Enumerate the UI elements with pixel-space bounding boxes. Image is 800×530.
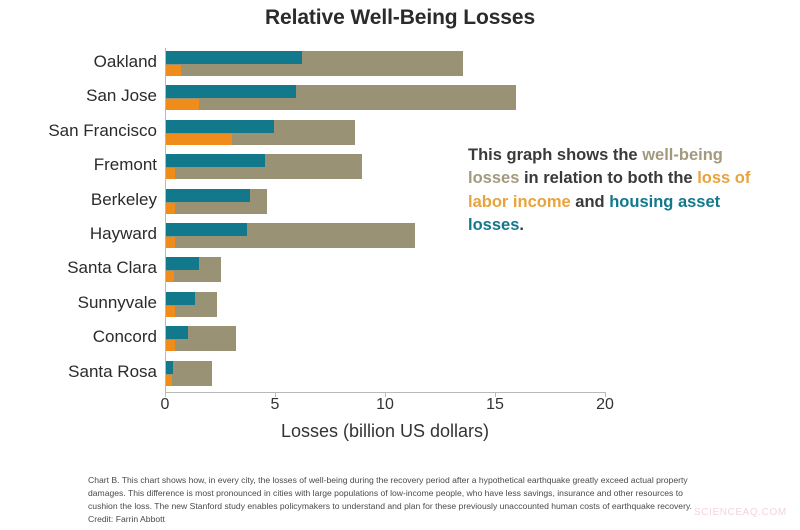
bar-housing-asset-losses xyxy=(166,51,302,64)
city-label: Fremont xyxy=(0,155,157,175)
watermark: SCIENCEAQ.COM xyxy=(694,507,787,518)
x-axis-tick-label: 10 xyxy=(355,396,415,414)
annotation-text: This graph shows the well-being losses i… xyxy=(468,144,758,238)
city-label: Sunnyvale xyxy=(0,293,157,313)
city-label: Berkeley xyxy=(0,190,157,210)
bar-labor-income-loss xyxy=(166,134,232,145)
city-label: San Francisco xyxy=(0,121,157,141)
bar-housing-asset-losses xyxy=(166,120,274,133)
bar-wellbeing-losses xyxy=(166,361,212,386)
city-label: San Jose xyxy=(0,86,157,106)
bar-row: Concord xyxy=(0,323,800,357)
bar-housing-asset-losses xyxy=(166,223,247,236)
bar-housing-asset-losses xyxy=(166,292,195,305)
bar-labor-income-loss xyxy=(166,375,172,386)
annotation-token-plain: This graph shows the xyxy=(468,146,642,164)
bar-labor-income-loss xyxy=(166,340,175,351)
annotation-token-plain: and xyxy=(571,193,610,211)
city-label: Santa Rosa xyxy=(0,362,157,382)
bar-row: Oakland xyxy=(0,48,800,82)
bar-housing-asset-losses xyxy=(166,257,199,270)
city-label: Oakland xyxy=(0,52,157,72)
x-axis-tick-label: 15 xyxy=(465,396,525,414)
bar-housing-asset-losses xyxy=(166,189,250,202)
x-axis-tick-label: 0 xyxy=(135,396,195,414)
bar-labor-income-loss xyxy=(166,203,175,214)
bar-housing-asset-losses xyxy=(166,85,296,98)
bar-labor-income-loss xyxy=(166,99,199,110)
city-label: Santa Clara xyxy=(0,258,157,278)
bar-row: Sunnyvale xyxy=(0,289,800,323)
bar-labor-income-loss xyxy=(166,306,175,317)
bar-labor-income-loss xyxy=(166,237,175,248)
bar-housing-asset-losses xyxy=(166,361,173,374)
annotation-token-plain: in relation to both the xyxy=(519,169,697,187)
x-axis-tick-label: 5 xyxy=(245,396,305,414)
bar-row: San Jose xyxy=(0,82,800,116)
city-label: Concord xyxy=(0,327,157,347)
page-title: Relative Well-Being Losses xyxy=(0,6,800,30)
chart-caption: Chart B. This chart shows how, in every … xyxy=(88,474,698,526)
bar-row: Santa Clara xyxy=(0,254,800,288)
x-axis-title: Losses (billion US dollars) xyxy=(165,421,605,442)
annotation-token-plain: . xyxy=(519,216,524,234)
bar-row: Santa Rosa xyxy=(0,358,800,392)
bar-labor-income-loss xyxy=(166,271,174,282)
bar-housing-asset-losses xyxy=(166,326,188,339)
bar-labor-income-loss xyxy=(166,65,181,76)
city-label: Hayward xyxy=(0,224,157,244)
bar-housing-asset-losses xyxy=(166,154,265,167)
bar-labor-income-loss xyxy=(166,168,175,179)
x-axis-tick-label: 20 xyxy=(575,396,635,414)
